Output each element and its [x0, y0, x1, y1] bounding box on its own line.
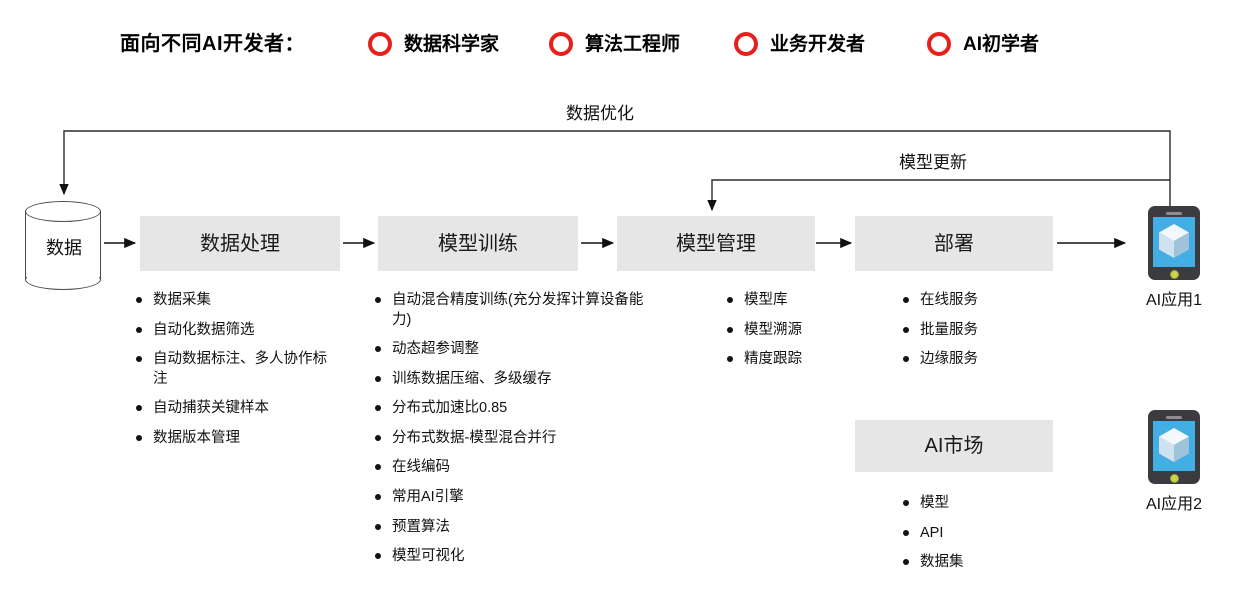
bullet-icon	[727, 356, 733, 362]
stage-items-deployment: 在线服务 批量服务 边缘服务	[903, 291, 1043, 380]
ai-app-1[interactable]: AI应用1	[1128, 206, 1220, 310]
datastore-label: 数据	[25, 223, 103, 271]
list-item: 在线服务	[903, 291, 1043, 311]
list-item: 数据集	[903, 553, 1043, 573]
bullet-icon	[375, 435, 381, 441]
arrow-data-optimization	[64, 131, 1170, 212]
bullet-icon	[136, 405, 142, 411]
list-item: 自动数据标注、多人协作标注	[136, 350, 341, 389]
circle-icon	[927, 32, 951, 56]
bullet-icon	[375, 297, 381, 303]
stage-title: 模型管理	[676, 234, 756, 254]
persona-label: 数据科学家	[404, 35, 499, 54]
list-item: 模型	[903, 494, 1043, 514]
mobile-app-icon	[1148, 206, 1200, 280]
list-item: API	[903, 524, 1043, 544]
persona-data-scientist: 数据科学家	[368, 24, 499, 64]
home-button-icon	[1170, 270, 1179, 279]
list-item: 数据采集	[136, 291, 341, 311]
persona-business-developer: 业务开发者	[734, 24, 865, 64]
stage-box-ai-market[interactable]: AI市场	[855, 420, 1053, 472]
bullet-icon	[136, 327, 142, 333]
mobile-app-icon	[1148, 410, 1200, 484]
stage-items-data-processing: 数据采集 自动化数据筛选 自动数据标注、多人协作标注 自动捕获关键样本 数据版本…	[136, 291, 341, 458]
persona-label: 算法工程师	[585, 35, 680, 54]
list-item: 动态超参调整	[375, 340, 650, 360]
stage-title: 数据处理	[200, 234, 280, 254]
stage-title: 部署	[934, 234, 974, 254]
home-button-icon	[1170, 474, 1179, 483]
stage-items-model-management: 模型库 模型溯源 精度跟踪	[727, 291, 867, 380]
bullet-icon	[903, 297, 909, 303]
stage-box-model-training[interactable]: 模型训练	[378, 216, 578, 271]
list-item: 分布式加速比0.85	[375, 399, 650, 419]
ai-app-2[interactable]: AI应用2	[1128, 410, 1220, 514]
list-item: 常用AI引擎	[375, 488, 650, 508]
page-title: 面向不同AI开发者：	[120, 24, 305, 64]
bullet-icon	[727, 327, 733, 333]
list-item: 模型溯源	[727, 321, 867, 341]
bullet-icon	[136, 297, 142, 303]
cube-icon	[1157, 222, 1191, 260]
list-item: 精度跟踪	[727, 350, 867, 370]
arrow-model-update	[712, 180, 1170, 210]
persona-label: AI初学者	[963, 35, 1039, 54]
bullet-icon	[375, 553, 381, 559]
list-item: 数据版本管理	[136, 429, 341, 449]
stage-title: AI市场	[925, 436, 984, 456]
list-item: 自动化数据筛选	[136, 321, 341, 341]
bullet-icon	[136, 356, 142, 362]
speaker-icon	[1166, 416, 1182, 419]
cube-icon	[1157, 426, 1191, 464]
stage-title: 模型训练	[438, 234, 518, 254]
circle-icon	[734, 32, 758, 56]
bullet-icon	[903, 530, 909, 536]
bullet-icon	[903, 559, 909, 565]
persona-algorithm-engineer: 算法工程师	[549, 24, 680, 64]
speaker-icon	[1166, 212, 1182, 215]
app-label: AI应用2	[1128, 490, 1220, 514]
list-item: 训练数据压缩、多级缓存	[375, 370, 650, 390]
stage-items-ai-market: 模型 API 数据集	[903, 494, 1043, 583]
list-item: 批量服务	[903, 321, 1043, 341]
app-label: AI应用1	[1128, 286, 1220, 310]
list-item: 自动捕获关键样本	[136, 399, 341, 419]
list-item: 在线编码	[375, 458, 650, 478]
bullet-icon	[727, 297, 733, 303]
stage-items-model-training: 自动混合精度训练(充分发挥计算设备能力) 动态超参调整 训练数据压缩、多级缓存 …	[375, 291, 650, 577]
bullet-icon	[375, 346, 381, 352]
label-data-optimization: 数据优化	[566, 99, 634, 124]
list-item: 模型库	[727, 291, 867, 311]
list-item: 分布式数据-模型混合并行	[375, 429, 650, 449]
circle-icon	[549, 32, 573, 56]
bullet-icon	[375, 524, 381, 530]
datastore-cylinder: 数据	[25, 201, 103, 291]
bullet-icon	[375, 376, 381, 382]
bullet-icon	[375, 464, 381, 470]
circle-icon	[368, 32, 392, 56]
label-model-update: 模型更新	[899, 148, 967, 173]
list-item: 边缘服务	[903, 350, 1043, 370]
persona-ai-beginner: AI初学者	[927, 24, 1039, 64]
list-item: 自动混合精度训练(充分发挥计算设备能力)	[375, 291, 650, 330]
list-item: 模型可视化	[375, 547, 650, 567]
list-item: 预置算法	[375, 518, 650, 538]
bullet-icon	[375, 405, 381, 411]
developer-personas-header: 面向不同AI开发者： 数据科学家 算法工程师 业务开发者 AI初学者	[0, 24, 1234, 64]
bullet-icon	[903, 327, 909, 333]
bullet-icon	[903, 500, 909, 506]
bullet-icon	[375, 494, 381, 500]
bullet-icon	[136, 435, 142, 441]
stage-box-deployment[interactable]: 部署	[855, 216, 1053, 271]
stage-box-data-processing[interactable]: 数据处理	[140, 216, 340, 271]
stage-box-model-management[interactable]: 模型管理	[617, 216, 815, 271]
persona-label: 业务开发者	[770, 35, 865, 54]
bullet-icon	[903, 356, 909, 362]
